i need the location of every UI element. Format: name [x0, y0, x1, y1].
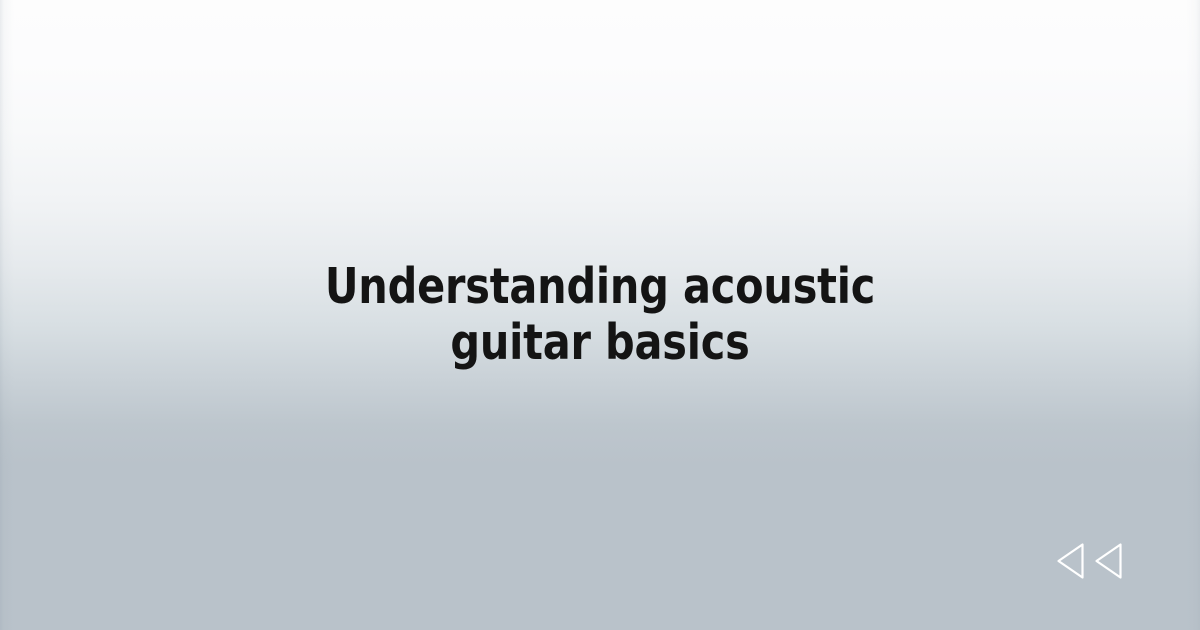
title-container: Understanding acoustic guitar basics — [0, 0, 1200, 630]
rewind-double-left-triangle-icon — [1056, 542, 1128, 580]
page-title: Understanding acoustic guitar basics — [252, 259, 948, 371]
rewind-button[interactable] — [1056, 542, 1128, 580]
og-card: Understanding acoustic guitar basics — [0, 0, 1200, 630]
rewind-triangle-first — [1059, 545, 1083, 578]
rewind-triangle-second — [1097, 545, 1121, 578]
